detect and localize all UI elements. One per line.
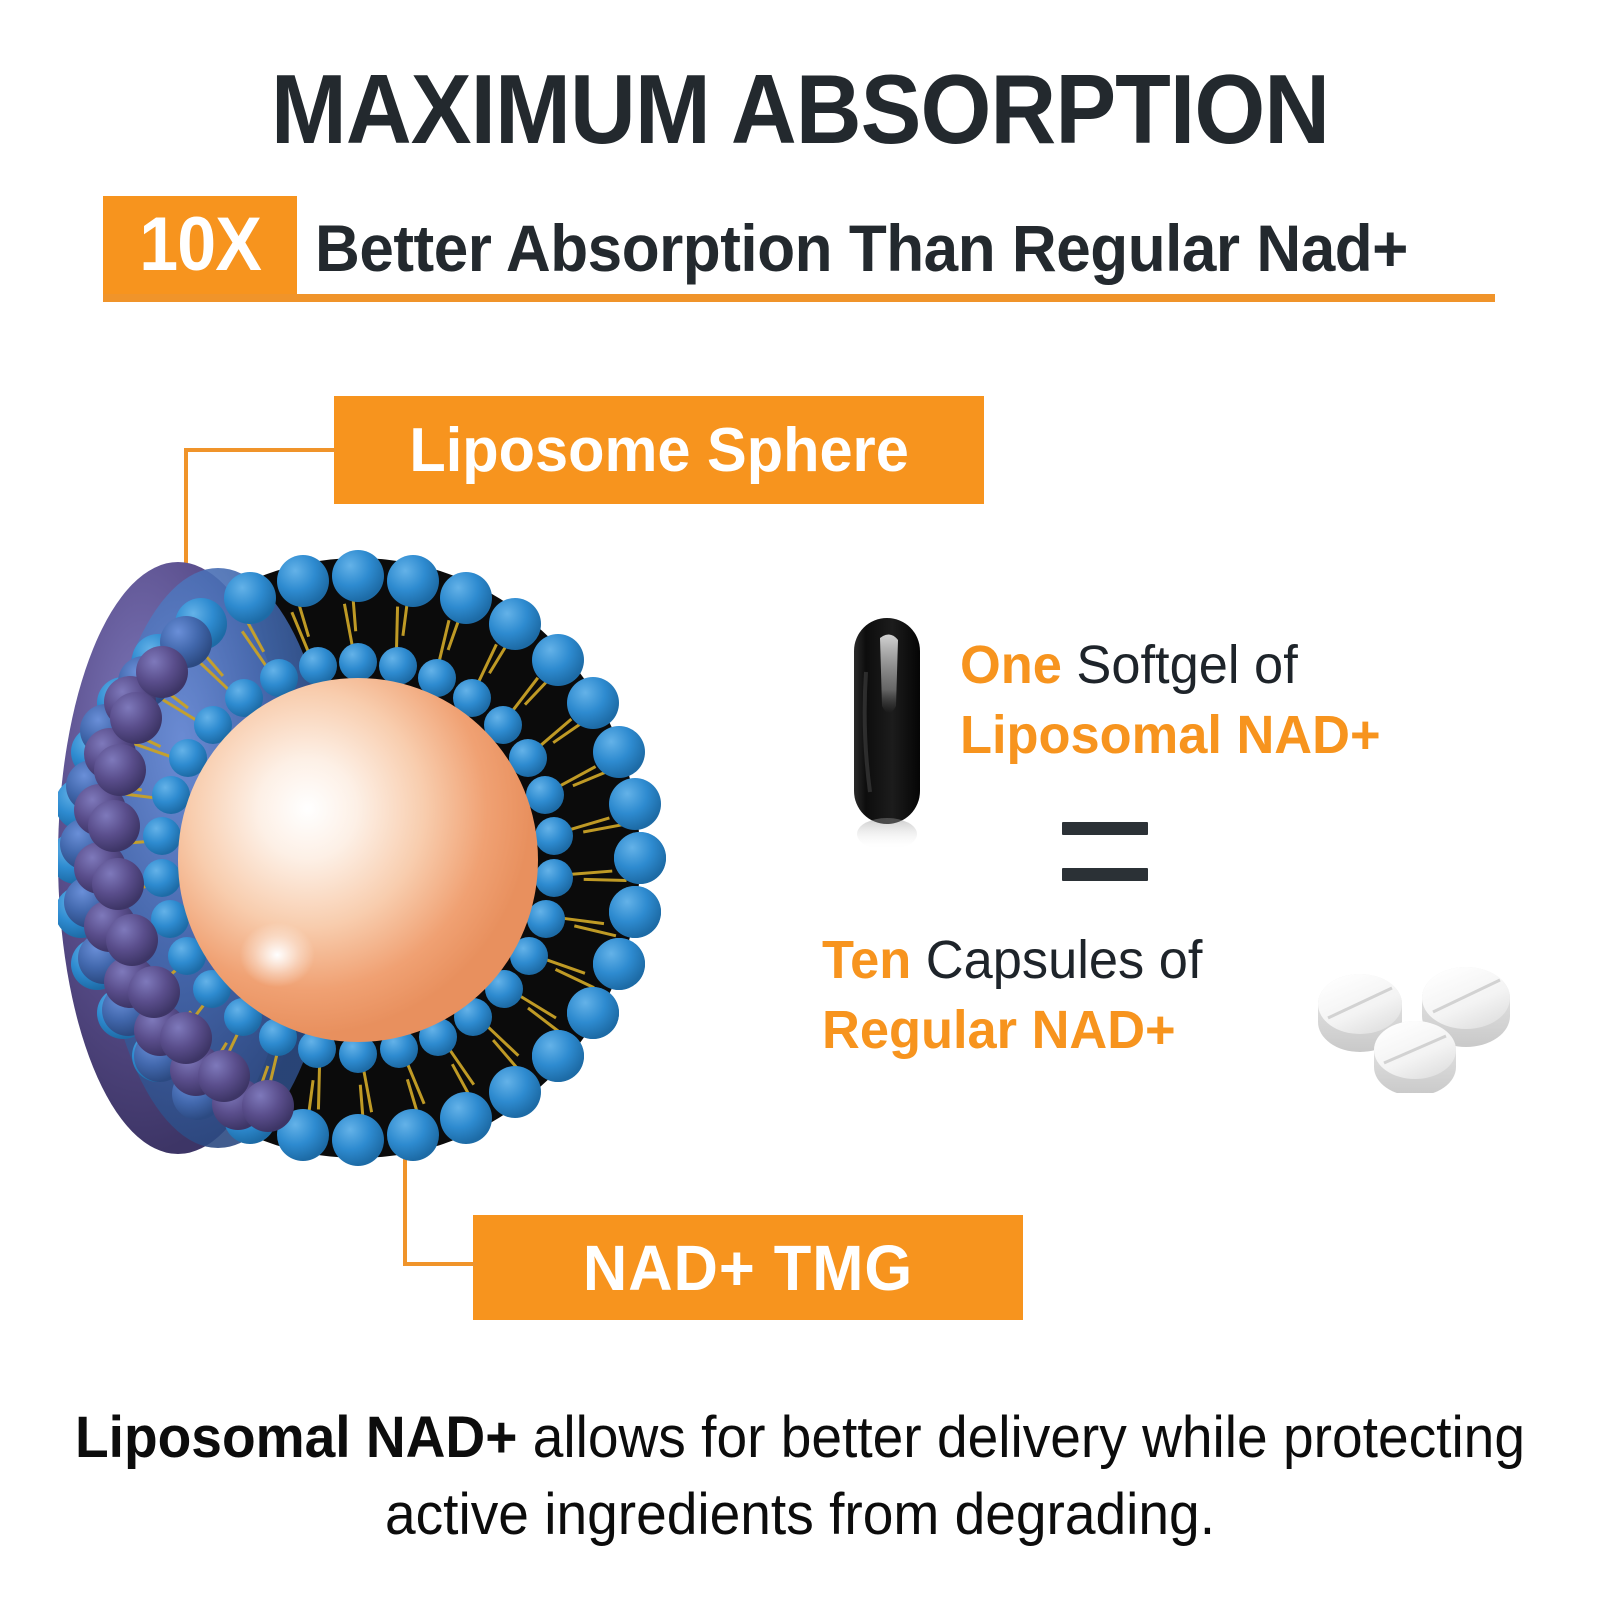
leader-line-liposome-horizontal (184, 448, 336, 452)
callout-liposome-sphere-label: Liposome Sphere (409, 415, 908, 486)
capsules-product-name: Regular NAD+ (822, 995, 1278, 1065)
subhead-row: 10X Better Absorption Than Regular Nad+ (103, 196, 1495, 304)
softgel-text-rest: Softgel of (1062, 635, 1298, 695)
comparison-softgel-text: One Softgel of Liposomal NAD+ (960, 630, 1464, 770)
subhead-text: Better Absorption Than Regular Nad+ (315, 202, 1408, 294)
leader-line-nad-tmg-horizontal (403, 1262, 477, 1266)
capsules-text-rest: Capsules of (911, 930, 1202, 990)
softgel-product-name: Liposomal NAD+ (960, 700, 1464, 770)
capsules-quantity-highlight: Ten (822, 930, 911, 990)
infographic-canvas: MAXIMUM ABSORPTION 10X Better Absorption… (0, 0, 1600, 1600)
liposome-cutaway-icon (58, 538, 678, 1178)
callout-nad-tmg: NAD+ TMG (473, 1215, 1023, 1320)
page-title: MAXIMUM ABSORPTION (56, 58, 1544, 161)
footer-caption-rest: allows for better delivery while protect… (385, 1405, 1525, 1547)
footer-caption-strong: Liposomal NAD+ (75, 1405, 517, 1470)
callout-nad-tmg-label: NAD+ TMG (583, 1231, 913, 1305)
footer-caption: Liposomal NAD+ allows for better deliver… (40, 1400, 1560, 1553)
equals-bar-bottom (1062, 868, 1148, 881)
black-softgel-capsule-icon (838, 612, 938, 862)
multiplier-badge: 10X (103, 196, 297, 294)
softgel-quantity-highlight: One (960, 635, 1062, 695)
equals-bar-top (1062, 822, 1148, 835)
equals-sign-icon (1062, 822, 1148, 890)
subhead-underline-rule (103, 294, 1495, 302)
comparison-capsules-text: Ten Capsules of Regular NAD+ (822, 925, 1278, 1065)
callout-liposome-sphere: Liposome Sphere (334, 396, 984, 504)
multiplier-badge-label: 10X (139, 207, 261, 283)
white-tablets-icon (1312, 918, 1522, 1093)
